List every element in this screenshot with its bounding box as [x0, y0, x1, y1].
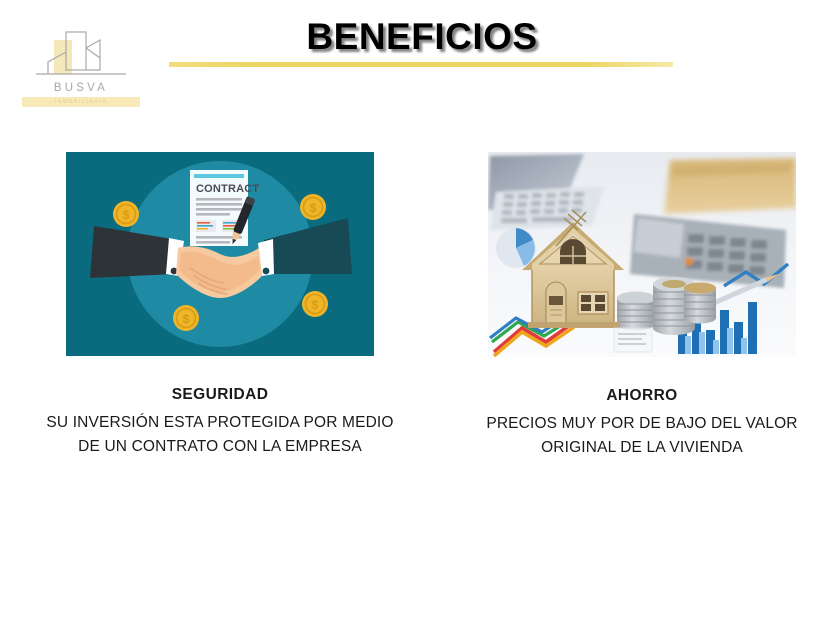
svg-text:$: $ [123, 208, 130, 222]
caption-body: SU INVERSIÓN ESTA PROTEGIDA POR MEDIO DE… [46, 411, 394, 459]
house-model-savings-photo [488, 152, 796, 357]
building-outline-icon [22, 26, 140, 84]
benefit-column-seguridad: CONTRACT [40, 152, 400, 459]
handshake-contract-illustration: CONTRACT [66, 152, 374, 356]
svg-text:$: $ [312, 298, 319, 312]
svg-text:CONTRACT: CONTRACT [196, 183, 259, 195]
caption-title: AHORRO [462, 387, 822, 406]
slide-canvas: BUSVA INMOBILIARIA BENEFICIOS CONTRACT [0, 0, 840, 630]
title-underline-rule [169, 62, 673, 67]
benefit-caption-ahorro: AHORRO PRECIOS MUY POR DE BAJO DEL VALOR… [462, 387, 822, 460]
caption-title: SEGURIDAD [40, 386, 400, 405]
benefit-caption-seguridad: SEGURIDAD SU INVERSIÓN ESTA PROTEGIDA PO… [40, 386, 400, 459]
svg-text:$: $ [310, 201, 317, 215]
caption-body: PRECIOS MUY POR DE BAJO DEL VALOR ORIGIN… [472, 412, 812, 460]
logo-subtitle: INMOBILIARIA [22, 97, 140, 107]
logo-wordmark: BUSVA [22, 82, 140, 94]
benefit-column-ahorro: AHORRO PRECIOS MUY POR DE BAJO DEL VALOR… [462, 152, 822, 460]
brand-logo: BUSVA INMOBILIARIA [22, 26, 140, 110]
page-title: BENEFICIOS [170, 16, 674, 58]
svg-text:$: $ [183, 312, 190, 326]
